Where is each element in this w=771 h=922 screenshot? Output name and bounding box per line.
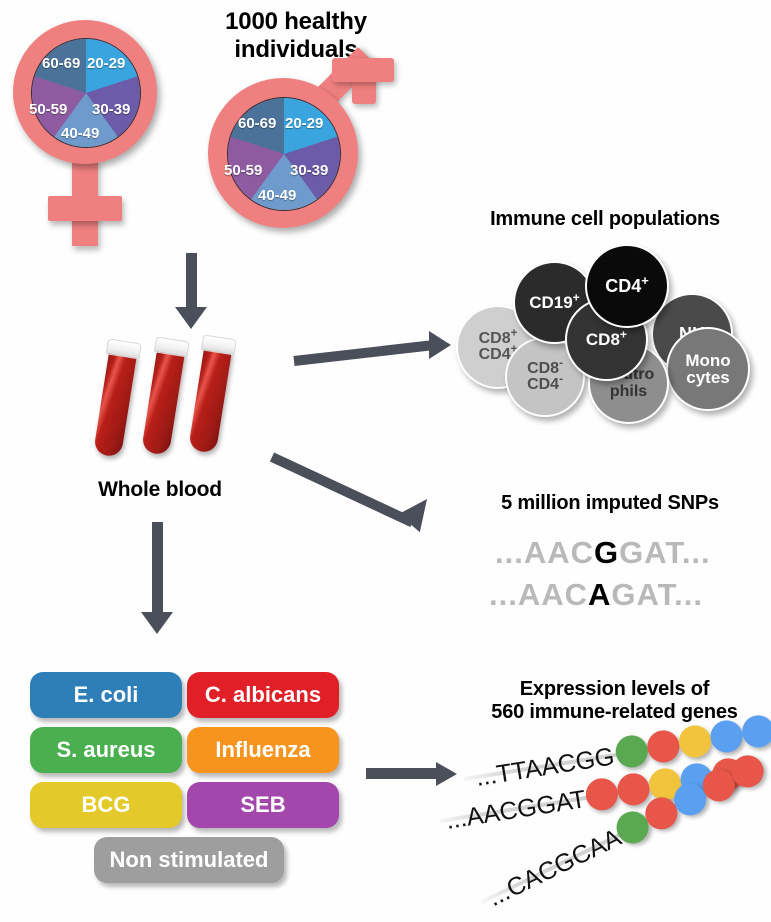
cell-monocytes: Mono cytes bbox=[666, 327, 750, 411]
female-gender-symbol: 20-29 30-39 40-49 50-59 60-69 bbox=[8, 18, 188, 248]
dna-sequence-text: ...CACGCAA bbox=[483, 823, 626, 912]
snps-title: 5 million imputed SNPs bbox=[455, 492, 765, 515]
cell-label: CD8+ bbox=[586, 331, 627, 349]
tube-blood bbox=[141, 348, 185, 456]
dna-bead bbox=[740, 713, 771, 750]
arrow-shaft bbox=[293, 340, 433, 366]
stimulation-label: BCG bbox=[82, 792, 131, 818]
cell-cd4-positive: CD4+ bbox=[585, 244, 669, 328]
stimulation-bcg[interactable]: BCG bbox=[30, 782, 182, 828]
arrow-head bbox=[141, 612, 173, 634]
female-symbol-crossbar bbox=[48, 196, 122, 221]
cell-label: CD8- CD4- bbox=[527, 361, 563, 394]
snp-sequence-row: ...AACAGAT... bbox=[489, 577, 703, 613]
snp-suffix: GAT... bbox=[611, 577, 703, 613]
immune-cells-group: CD19+ CD4+ NK CD8+ CD4+ CD8+ Mono cytes … bbox=[455, 243, 760, 403]
pie-label-50-59: 50-59 bbox=[29, 101, 67, 118]
expression-title: Expression levels of 560 immune-related … bbox=[462, 678, 767, 724]
stimulation-s-aureus[interactable]: S. aureus bbox=[30, 727, 182, 773]
dna-bead bbox=[613, 733, 650, 770]
snp-prefix: ...AAC bbox=[489, 577, 588, 613]
blood-tube bbox=[206, 335, 234, 339]
tube-blood bbox=[188, 346, 232, 454]
male-pie-label-50-59: 50-59 bbox=[224, 162, 262, 179]
immune-populations-title: Immune cell populations bbox=[450, 208, 760, 231]
blood-tube bbox=[111, 339, 139, 343]
arrow-shaft bbox=[186, 253, 197, 309]
male-pie-label-30-39: 30-39 bbox=[290, 162, 328, 179]
pie-label-60-69: 60-69 bbox=[42, 55, 80, 72]
arrow-shaft bbox=[152, 522, 163, 614]
pie-label-20-29: 20-29 bbox=[87, 55, 125, 72]
stimulation-non-stimulated[interactable]: Non stimulated bbox=[94, 837, 284, 883]
dna-bead bbox=[645, 728, 682, 765]
snp-prefix: ...AAC bbox=[495, 535, 594, 571]
stimulation-label: C. albicans bbox=[205, 682, 321, 708]
arrow-shaft bbox=[270, 452, 415, 527]
stimulation-c-albicans[interactable]: C. albicans bbox=[187, 672, 339, 718]
male-pie-label-40-49: 40-49 bbox=[258, 187, 296, 204]
stimulation-label: E. coli bbox=[74, 682, 139, 708]
stimulation-label: S. aureus bbox=[56, 737, 155, 763]
snp-suffix: GAT... bbox=[619, 535, 711, 571]
dna-bead bbox=[677, 723, 714, 760]
arrow-head bbox=[175, 307, 207, 329]
expression-title-line1: Expression levels of bbox=[462, 678, 767, 701]
male-pie-label-60-69: 60-69 bbox=[238, 115, 276, 132]
cohort-title: 1000 healthy individuals bbox=[186, 8, 406, 63]
male-pie-label-20-29: 20-29 bbox=[285, 115, 323, 132]
blood-tube bbox=[159, 337, 187, 341]
arrow-head bbox=[399, 499, 439, 537]
snp-variant-allele: G bbox=[594, 535, 619, 571]
stimulation-label: Non stimulated bbox=[110, 847, 269, 873]
stimulation-label: SEB bbox=[240, 792, 285, 818]
cell-label: Mono cytes bbox=[685, 352, 730, 387]
arrow-head bbox=[429, 331, 451, 359]
dna-strands-group: ...TTAACGG ...AACGGAT ...CACGCAA bbox=[452, 740, 771, 920]
blood-tubes-group bbox=[105, 338, 285, 468]
dna-bead bbox=[708, 718, 745, 755]
pie-label-30-39: 30-39 bbox=[92, 101, 130, 118]
stimulation-label: Influenza bbox=[215, 737, 310, 763]
stimulation-seb[interactable]: SEB bbox=[187, 782, 339, 828]
whole-blood-label: Whole blood bbox=[70, 478, 250, 502]
snp-variant-allele: A bbox=[588, 577, 611, 613]
arrow-shaft bbox=[366, 768, 438, 779]
pie-label-40-49: 40-49 bbox=[61, 125, 99, 142]
male-symbol-arrow-barb-horizontal bbox=[332, 58, 394, 82]
stimulation-e-coli[interactable]: E. coli bbox=[30, 672, 182, 718]
cohort-title-line1: 1000 healthy bbox=[186, 8, 406, 36]
snp-sequence-row: ...AACGGAT... bbox=[495, 535, 711, 571]
cell-label: CD19+ bbox=[529, 294, 580, 312]
male-gender-symbol: 20-29 30-39 40-49 50-59 60-69 bbox=[198, 60, 398, 260]
cell-label: CD4+ bbox=[605, 277, 649, 296]
stimulation-panel: E. coli C. albicans S. aureus Influenza … bbox=[30, 672, 340, 897]
dna-bead bbox=[584, 776, 621, 813]
tube-blood bbox=[93, 350, 137, 458]
stimulation-influenza[interactable]: Influenza bbox=[187, 727, 339, 773]
